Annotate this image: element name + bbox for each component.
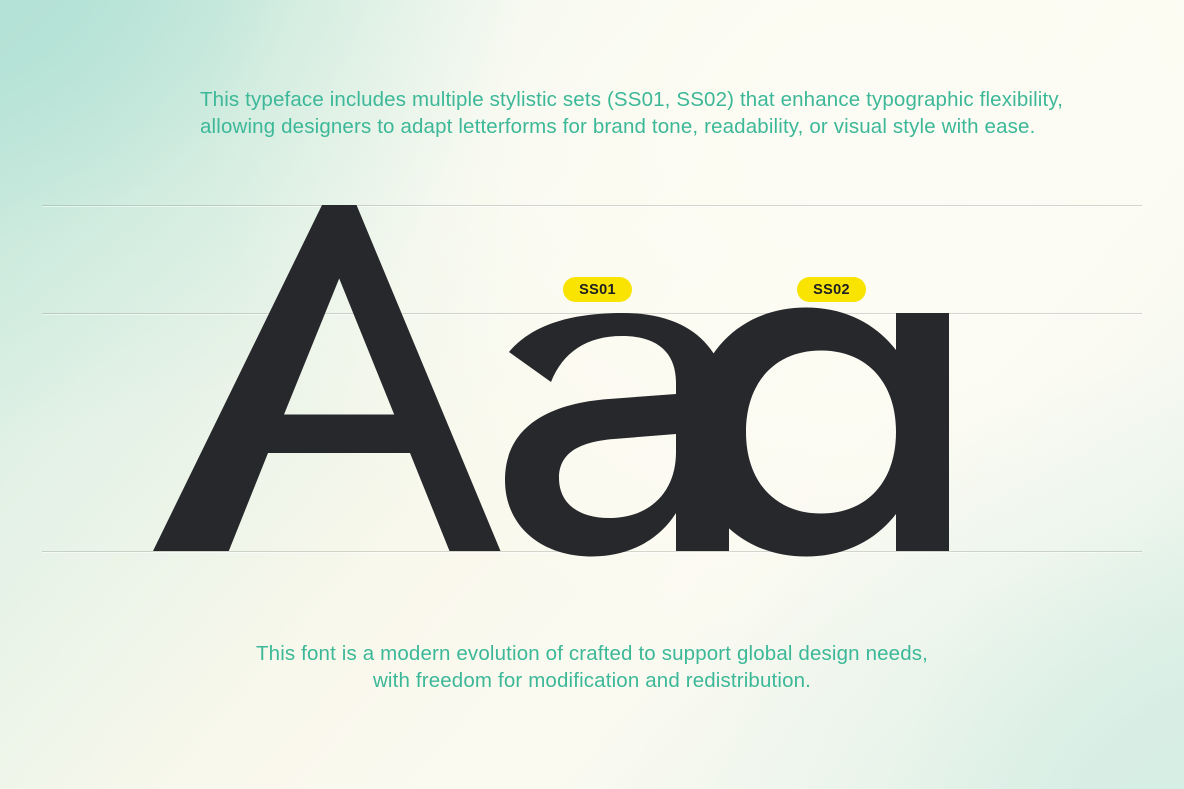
guideline-cap-height bbox=[42, 205, 1142, 206]
intro-line-2: allowing designers to adapt letterforms … bbox=[200, 113, 1063, 140]
typeface-specimen-page: This typeface includes multiple stylisti… bbox=[0, 0, 1184, 789]
outro-line-1: This font is a modern evolution of craft… bbox=[0, 640, 1184, 667]
guideline-x-height bbox=[42, 313, 1142, 314]
stylistic-set-02-badge[interactable]: SS02 bbox=[797, 277, 866, 302]
intro-paragraph: This typeface includes multiple stylisti… bbox=[200, 86, 1063, 140]
stylistic-set-01-label: SS01 bbox=[579, 282, 616, 298]
outro-paragraph: This font is a modern evolution of craft… bbox=[0, 640, 1184, 694]
stylistic-set-01-badge[interactable]: SS01 bbox=[563, 277, 632, 302]
intro-line-1: This typeface includes multiple stylisti… bbox=[200, 86, 1063, 113]
glyph-uppercase-a bbox=[153, 205, 501, 551]
glyph-lowercase-a-ss01 bbox=[505, 313, 729, 557]
outro-line-2: with freedom for modification and redist… bbox=[0, 667, 1184, 694]
guideline-baseline bbox=[42, 551, 1142, 552]
glyph-lowercase-a-ss02 bbox=[691, 308, 949, 557]
stylistic-set-02-label: SS02 bbox=[813, 282, 850, 298]
